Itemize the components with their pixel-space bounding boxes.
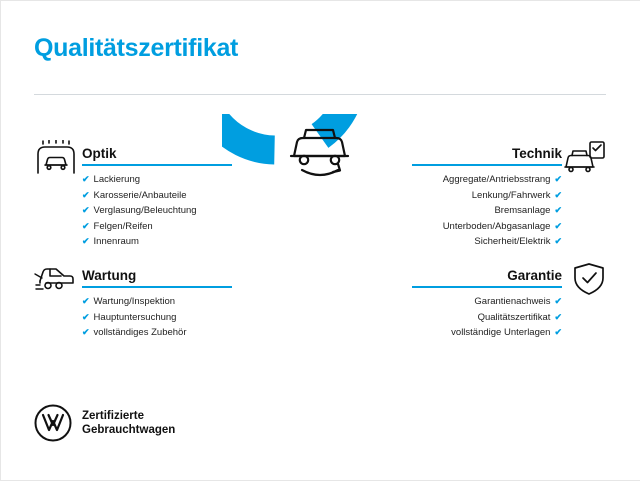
section-items: ✔Lackierung ✔Karosserie/Anbauteile ✔Verg… bbox=[34, 172, 254, 250]
footer: Zertifizierte Gebrauchtwagen bbox=[34, 404, 175, 442]
section-underline bbox=[82, 286, 232, 288]
section-items: Garantienachweis✔ Qualitätszertifikat✔ v… bbox=[386, 294, 606, 341]
section-items: ✔Wartung/Inspektion ✔Hauptuntersuchung ✔… bbox=[34, 294, 254, 341]
list-item: vollständige Unterlagen✔ bbox=[386, 325, 562, 341]
badge-curved-text: Gebrauchtwagen-Check bbox=[248, 228, 392, 286]
check-icon: ✔ bbox=[554, 174, 562, 184]
check-icon: ✔ bbox=[82, 327, 90, 337]
check-icon: ✔ bbox=[554, 327, 562, 337]
check-icon: ✔ bbox=[82, 296, 90, 306]
list-item: ✔vollständiges Zubehör bbox=[82, 325, 254, 341]
vw-logo-icon bbox=[34, 404, 72, 442]
footer-text: Zertifizierte Gebrauchtwagen bbox=[82, 409, 175, 437]
check-icon: ✔ bbox=[82, 174, 90, 184]
list-item-label: Sicherheit/Elektrik bbox=[474, 236, 550, 247]
section-title: Wartung bbox=[82, 268, 136, 283]
list-item-label: Bremsanlage bbox=[494, 205, 550, 216]
section-garantie: Garantie Garantienachweis✔ Qualitätszert… bbox=[386, 262, 606, 341]
section-technik: Technik Aggregate/Antriebsstrang✔ Lenkun… bbox=[386, 140, 606, 250]
list-item: Qualitätszertifikat✔ bbox=[386, 310, 562, 326]
footer-line-1: Zertifizierte bbox=[82, 409, 175, 423]
list-item-label: Lenkung/Fahrwerk bbox=[472, 190, 551, 201]
check-icon: ✔ bbox=[82, 221, 90, 231]
check-icon: ✔ bbox=[82, 236, 90, 246]
page-title: Qualitätszertifikat bbox=[34, 34, 238, 63]
check-icon: ✔ bbox=[554, 221, 562, 231]
title-divider bbox=[34, 94, 606, 95]
section-underline bbox=[412, 164, 562, 166]
footer-line-2: Gebrauchtwagen bbox=[82, 423, 175, 437]
list-item-label: Felgen/Reifen bbox=[94, 221, 153, 232]
list-item-label: Wartung/Inspektion bbox=[94, 296, 176, 307]
list-item-label: Hauptuntersuchung bbox=[94, 312, 177, 323]
check-icon: ✔ bbox=[554, 190, 562, 200]
badge-360-check: Gebrauchtwagen-Check 360° bbox=[222, 114, 418, 310]
svg-text:Gebrauchtwagen-Check: Gebrauchtwagen-Check bbox=[248, 228, 392, 286]
check-icon: ✔ bbox=[82, 190, 90, 200]
list-item-label: Verglasung/Beleuchtung bbox=[94, 205, 197, 216]
badge-degrees: 360° bbox=[222, 200, 418, 234]
car-rotate-icon bbox=[280, 122, 360, 189]
check-icon: ✔ bbox=[554, 296, 562, 306]
list-item-label: Lackierung bbox=[94, 174, 140, 185]
list-item-label: Aggregate/Antriebsstrang bbox=[443, 174, 551, 185]
list-item-label: vollständiges Zubehör bbox=[94, 327, 187, 338]
check-icon: ✔ bbox=[554, 205, 562, 215]
list-item: ✔Hauptuntersuchung bbox=[82, 310, 254, 326]
list-item-label: vollständige Unterlagen bbox=[451, 327, 550, 338]
list-item-label: Unterboden/Abgasanlage bbox=[443, 221, 551, 232]
certificate-page: Qualitätszertifikat Optik ✔Lackierung bbox=[0, 0, 640, 480]
list-item-label: Garantienachweis bbox=[474, 296, 550, 307]
section-title: Optik bbox=[82, 146, 117, 161]
check-icon: ✔ bbox=[82, 205, 90, 215]
section-underline bbox=[82, 164, 232, 166]
list-item-label: Innenraum bbox=[94, 236, 139, 247]
check-icon: ✔ bbox=[554, 236, 562, 246]
section-wartung: Wartung ✔Wartung/Inspektion ✔Hauptunters… bbox=[34, 262, 254, 341]
check-icon: ✔ bbox=[554, 312, 562, 322]
section-underline bbox=[412, 286, 562, 288]
section-title: Technik bbox=[512, 146, 562, 161]
section-items: Aggregate/Antriebsstrang✔ Lenkung/Fahrwe… bbox=[386, 172, 606, 250]
section-optik: Optik ✔Lackierung ✔Karosserie/Anbauteile… bbox=[34, 140, 254, 250]
check-icon: ✔ bbox=[82, 312, 90, 322]
section-title: Garantie bbox=[507, 268, 562, 283]
list-item-label: Qualitätszertifikat bbox=[478, 312, 551, 323]
list-item-label: Karosserie/Anbauteile bbox=[94, 190, 187, 201]
